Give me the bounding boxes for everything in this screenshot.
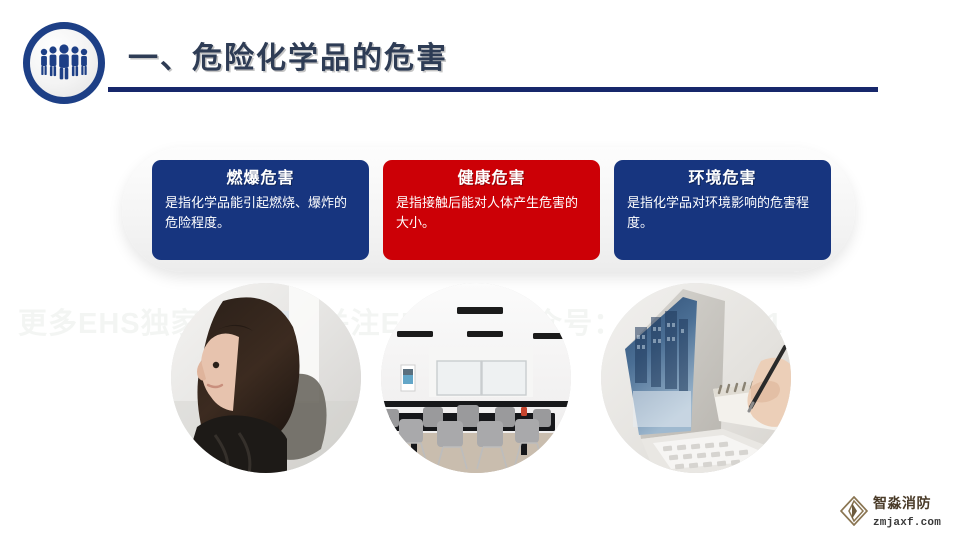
hazard-card-body: 是指化学品能引起燃烧、爆炸的危险程度。: [165, 193, 356, 233]
hazard-card-title: 健康危害: [396, 169, 587, 189]
hazard-card-body: 是指化学品对环境影响的危害程度。: [627, 193, 818, 233]
title-underline-rule: [108, 87, 878, 92]
hazard-card-title: 环境危害: [627, 169, 818, 189]
logo-website-url: zmjaxf.com: [873, 517, 941, 529]
hazard-card-health[interactable]: 健康危害 是指接触后能对人体产生危害的大小。: [383, 160, 600, 260]
hazard-card-body: 是指接触后能对人体产生危害的大小。: [396, 193, 587, 233]
footer-logo[interactable]: 智淼消防 zmjaxf.com: [840, 494, 952, 532]
photo-meeting-room: [381, 283, 571, 473]
hazard-card-combustion-explosion[interactable]: 燃爆危害 是指化学品能引起燃烧、爆炸的危险程度。: [152, 160, 369, 260]
photo-woman-profile: [171, 283, 361, 473]
logo-company-name: 智淼消防: [873, 495, 931, 511]
hazard-card-environmental[interactable]: 环境危害 是指化学品对环境影响的危害程度。: [614, 160, 831, 260]
people-group-icon: [23, 22, 105, 104]
diamond-logo-icon: [840, 496, 868, 531]
slide-header: 一、危险化学品的危害: [0, 0, 960, 120]
page-title: 一、危险化学品的危害: [128, 33, 448, 77]
hazard-card-title: 燃爆危害: [165, 169, 356, 189]
hazard-cards-row: 燃爆危害 是指化学品能引起燃烧、爆炸的危险程度。 健康危害 是指接触后能对人体产…: [152, 160, 832, 260]
photo-laptop-notebook: [601, 283, 791, 473]
